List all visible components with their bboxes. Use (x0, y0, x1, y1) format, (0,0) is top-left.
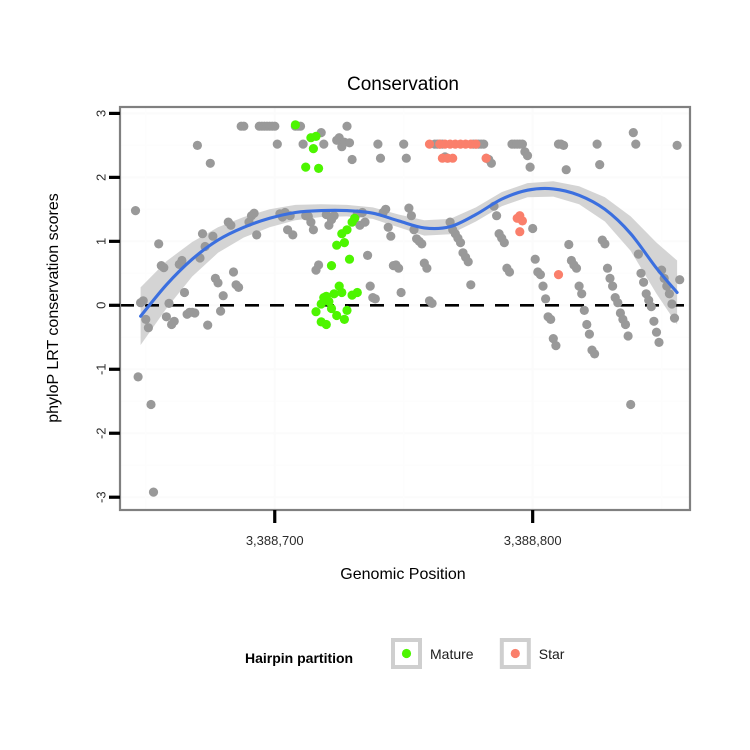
data-point-other (647, 302, 656, 311)
y-tick-label: -2 (93, 427, 108, 439)
data-point-other (376, 154, 385, 163)
data-point-other (523, 151, 532, 160)
x-tick-label: 3,388,800 (504, 533, 562, 548)
y-tick-label: 2 (93, 174, 108, 181)
data-point-other (342, 122, 351, 131)
y-tick-label: -1 (93, 363, 108, 375)
data-point-other (348, 155, 357, 164)
data-point-mature (309, 144, 318, 153)
data-point-other (505, 267, 514, 276)
data-point-mature (340, 315, 349, 324)
data-point-other (250, 209, 259, 218)
data-point-mature (291, 120, 300, 129)
data-point-star (554, 270, 563, 279)
y-tick-label: 1 (93, 238, 108, 245)
data-point-other (629, 128, 638, 137)
data-point-mature (342, 225, 351, 234)
data-point-other (417, 239, 426, 248)
data-point-mature (311, 132, 320, 141)
data-point-mature (330, 289, 339, 298)
data-point-other (631, 140, 640, 149)
data-point-other (139, 296, 148, 305)
data-point-other (373, 140, 382, 149)
data-point-other (572, 264, 581, 273)
data-point-other (206, 159, 215, 168)
page-title: Conservation (347, 74, 459, 95)
data-point-star (515, 227, 524, 236)
data-point-other (330, 211, 339, 220)
data-point-other (131, 206, 140, 215)
data-point-other (654, 338, 663, 347)
data-point-star (425, 140, 434, 149)
data-point-other (528, 224, 537, 233)
data-point-other (608, 282, 617, 291)
legend-entry-label: Mature (430, 646, 474, 662)
data-point-star (482, 154, 491, 163)
data-point-mature (301, 163, 310, 172)
data-point-mature (317, 317, 326, 326)
data-point-other (670, 314, 679, 323)
data-point-other (213, 278, 222, 287)
data-point-other (309, 225, 318, 234)
data-point-other (580, 306, 589, 315)
data-point-other (164, 299, 173, 308)
x-tick-label: 3,388,700 (246, 533, 304, 548)
data-point-other (162, 312, 171, 321)
data-point-mature (314, 164, 323, 173)
data-point-other (665, 289, 674, 298)
data-point-other (381, 205, 390, 214)
data-point-other (159, 263, 168, 272)
data-point-other (652, 328, 661, 337)
data-point-mature (337, 288, 346, 297)
data-point-mature (311, 307, 320, 316)
data-point-other (621, 320, 630, 329)
data-point-other (559, 141, 568, 150)
data-point-other (345, 138, 354, 147)
data-point-other (394, 264, 403, 273)
data-point-mature (350, 214, 359, 223)
data-point-other (613, 298, 622, 307)
data-point-other (216, 307, 225, 316)
data-point-other (466, 280, 475, 289)
data-point-other (144, 323, 153, 332)
data-point-other (198, 229, 207, 238)
data-point-other (149, 488, 158, 497)
data-point-other (428, 299, 437, 308)
data-point-mature (353, 288, 362, 297)
data-point-other (203, 321, 212, 330)
data-point-other (180, 288, 189, 297)
data-point-other (360, 218, 369, 227)
data-point-other (366, 282, 375, 291)
x-axis-title: Genomic Position (340, 566, 465, 583)
data-point-other (154, 239, 163, 248)
chart-stage: Conservation phyloP LRT conservation sco… (0, 0, 750, 750)
data-point-other (229, 267, 238, 276)
data-point-other (639, 278, 648, 287)
data-point-other (577, 289, 586, 298)
data-point-other (634, 250, 643, 259)
y-axis-title: phyloP LRT conservation scores (45, 193, 62, 422)
data-point-other (603, 264, 612, 273)
y-tick-label: -3 (93, 491, 108, 503)
data-point-other (402, 154, 411, 163)
data-point-other (649, 317, 658, 326)
data-point-other (600, 239, 609, 248)
data-point-other (288, 230, 297, 239)
data-point-star (513, 214, 522, 223)
data-point-mature (345, 255, 354, 264)
data-point-other (270, 122, 279, 131)
data-point-mature (342, 306, 351, 315)
legend-title: Hairpin partition (245, 650, 353, 666)
data-point-other (582, 320, 591, 329)
data-point-other (456, 238, 465, 247)
y-tick-label: 3 (93, 110, 108, 117)
data-point-other (585, 330, 594, 339)
legend-entry-label: Star (539, 646, 565, 662)
data-point-other (384, 223, 393, 232)
data-point-other (170, 317, 179, 326)
data-point-other (252, 230, 261, 239)
data-point-star (471, 140, 480, 149)
data-point-other (562, 165, 571, 174)
data-point-other (239, 122, 248, 131)
data-point-other (193, 141, 202, 150)
data-point-other (319, 140, 328, 149)
data-point-other (551, 341, 560, 350)
data-point-other (636, 269, 645, 278)
data-point-other (208, 232, 217, 241)
data-point-other (667, 299, 676, 308)
data-point-mature (317, 299, 326, 308)
data-point-star (448, 154, 457, 163)
data-point-mature (327, 261, 336, 270)
data-point-other (500, 238, 509, 247)
data-point-other (399, 140, 408, 149)
data-point-other (536, 270, 545, 279)
data-point-other (407, 211, 416, 220)
data-point-other (673, 141, 682, 150)
data-point-other (234, 283, 243, 292)
data-point-other (526, 163, 535, 172)
data-point-other (590, 349, 599, 358)
legend-key-dot (511, 649, 520, 658)
data-point-other (546, 315, 555, 324)
data-point-other (593, 140, 602, 149)
conservation-scatter-plot: Conservation phyloP LRT conservation sco… (0, 0, 750, 750)
data-point-other (595, 160, 604, 169)
data-point-other (397, 288, 406, 297)
data-point-other (464, 257, 473, 266)
data-point-other (624, 331, 633, 340)
data-point-other (134, 372, 143, 381)
y-tick-label: 0 (93, 302, 108, 309)
data-point-other (314, 260, 323, 269)
data-point-other (226, 221, 235, 230)
data-point-other (219, 291, 228, 300)
data-point-other (146, 400, 155, 409)
data-point-other (273, 140, 282, 149)
data-point-other (538, 282, 547, 291)
data-point-other (422, 264, 431, 273)
data-point-other (371, 294, 380, 303)
data-point-mature (332, 241, 341, 250)
data-point-other (564, 240, 573, 249)
data-point-other (541, 294, 550, 303)
data-point-other (675, 275, 684, 284)
data-point-other (299, 140, 308, 149)
data-point-other (363, 251, 372, 260)
data-point-other (190, 308, 199, 317)
legend-key-dot (402, 649, 411, 658)
data-point-other (492, 211, 501, 220)
data-point-other (531, 255, 540, 264)
data-point-other (386, 232, 395, 241)
data-point-other (626, 400, 635, 409)
